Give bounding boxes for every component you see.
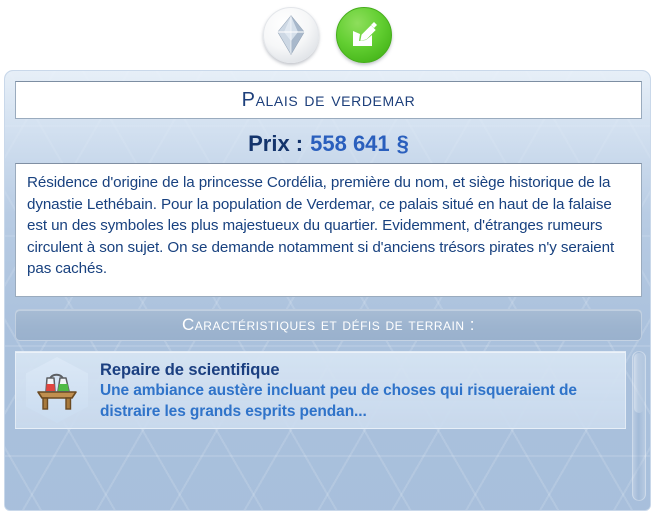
traits-scrollbar-track[interactable] — [632, 351, 646, 501]
simoleon-currency-icon: § — [397, 131, 409, 157]
top-icon-bar — [0, 0, 655, 70]
lot-description-box[interactable]: Résidence d'origine de la princesse Cord… — [15, 163, 642, 297]
price-label: Prix : — [248, 131, 303, 157]
lot-info-panel: Palais de Verdemar Prix : 558 641 § Rési… — [4, 70, 651, 511]
lot-description-text: Résidence d'origine de la princesse Cord… — [27, 172, 631, 280]
lot-price-row: Prix : 558 641 § — [5, 126, 651, 162]
lot-info-screen: Palais de Verdemar Prix : 558 641 § Rési… — [0, 0, 655, 513]
edit-lot-button[interactable] — [336, 7, 392, 63]
traits-scrollbar-thumb[interactable] — [634, 353, 644, 413]
trait-title: Repaire de scientifique — [100, 360, 580, 381]
science-table-icon — [32, 368, 82, 412]
lot-name-field[interactable]: Palais de Verdemar — [15, 81, 642, 119]
lot-traits-header-bar: Caractéristiques et défis de terrain : — [15, 309, 642, 341]
trait-text-block: Repaire de scientifique Une ambiance aus… — [100, 358, 580, 422]
list-item[interactable]: Repaire de scientifique Une ambiance aus… — [15, 351, 626, 429]
trait-description: Une ambiance austère incluant peu de cho… — [100, 381, 580, 422]
price-value: 558 641 — [310, 131, 390, 157]
plumbob-icon — [276, 15, 306, 55]
pencil-edit-icon — [348, 19, 380, 51]
lot-traits-header-label: Caractéristiques et défis de terrain : — [182, 315, 475, 335]
page-title: Palais de Verdemar — [242, 89, 416, 112]
plumbob-button[interactable] — [263, 7, 319, 63]
lot-traits-list: Repaire de scientifique Une ambiance aus… — [15, 351, 626, 429]
trait-icon-container — [24, 357, 90, 423]
